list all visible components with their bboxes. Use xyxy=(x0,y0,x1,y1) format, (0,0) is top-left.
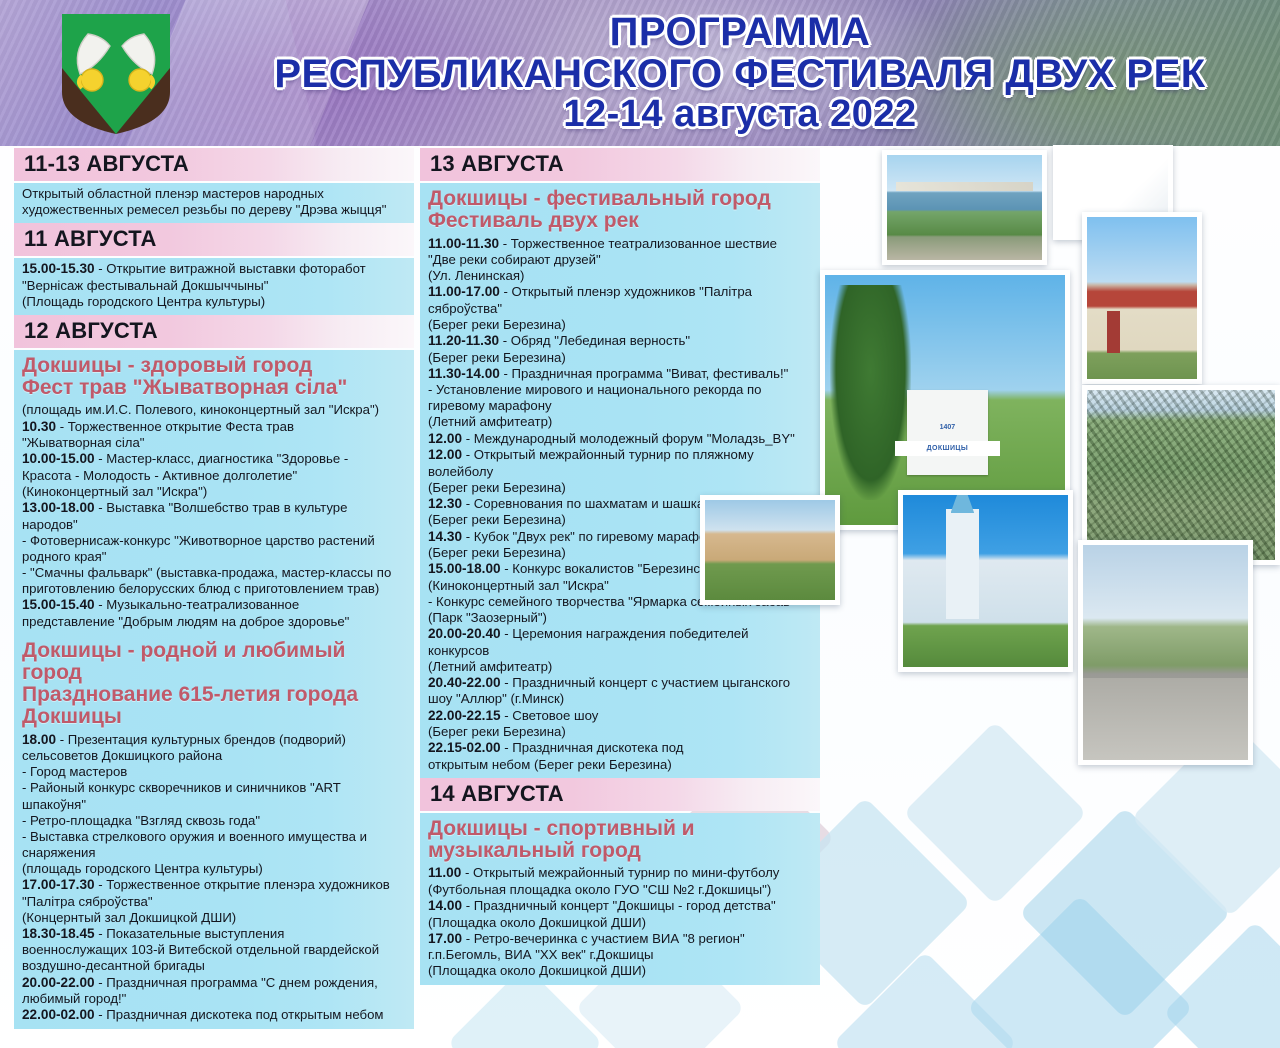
program-item-text: г.п.Бегомль, ВИА "ХХ век" г.Докшицы xyxy=(428,947,653,962)
program-item: 12.00 - Международный молодежный форум "… xyxy=(428,431,814,448)
program-item: народов" xyxy=(22,517,408,533)
program-subtitle: Докшицы - здоровый городФест трав "Жыват… xyxy=(22,355,408,400)
program-item: (Летний амфитеатр) xyxy=(428,659,814,675)
program-item-text: (Берег реки Березина) xyxy=(428,512,566,527)
program-item-text: - Фотовернисаж-конкурс "Животворное царс… xyxy=(22,533,375,564)
program-item: - Ретро-площадка "Взгляд сквозь года" xyxy=(22,813,408,829)
program-item-text: - Открытый межрайонный турнир по пляжном… xyxy=(466,447,754,462)
program-item: (Берег реки Березина) xyxy=(428,724,814,740)
festival-program-poster: ПРОГРАММА РЕСПУБЛИКАНСКОГО ФЕСТИВАЛЯ ДВУ… xyxy=(0,0,1280,1048)
program-item-text: - Торжественное театрализованное шествие xyxy=(503,236,777,251)
program-item: 17.00-17.30 - Торжественное открытие пле… xyxy=(22,877,408,894)
program-item-time: 14.30 xyxy=(428,529,462,544)
program-item-text: - Обряд "Лебединая верность" xyxy=(503,333,690,348)
program-item-text: - Ретро-вечеринка с участием ВИА "8 реги… xyxy=(466,931,745,946)
program-item-time: 12.00 xyxy=(428,431,462,446)
program-item: "Вернісаж фестывальнай Докшыччыны" xyxy=(22,278,408,294)
program-item: - Установление мирового и национального … xyxy=(428,382,814,414)
program-item-text: "Палітра сяброўства" xyxy=(22,894,153,909)
photo-collage: 1407 ДОКШИЦЫ xyxy=(820,140,1280,940)
program-item-text: Красота - Молодость - Активное долголети… xyxy=(22,468,297,483)
program-subtitle: Докшицы - спортивный и музыкальный город xyxy=(428,818,814,863)
program-block: 15.00-15.30 - Открытие витражной выставк… xyxy=(14,258,414,315)
program-item-text: (Берег реки Березина) xyxy=(428,350,566,365)
program-item-time: 17.00-17.30 xyxy=(22,877,95,892)
header-title-group: ПРОГРАММА РЕСПУБЛИКАНСКОГО ФЕСТИВАЛЯ ДВУ… xyxy=(200,0,1280,146)
program-item: "Две реки собирают друзей" xyxy=(428,252,814,268)
program-item: 12.00 - Открытый межрайонный турнир по п… xyxy=(428,447,814,464)
program-item: 15.00-15.30 - Открытие витражной выставк… xyxy=(22,261,408,278)
program-block: Открытый областной пленэр мастеров народ… xyxy=(14,183,414,223)
poster-header: ПРОГРАММА РЕСПУБЛИКАНСКОГО ФЕСТИВАЛЯ ДВУ… xyxy=(0,0,1280,146)
program-item-text: - Торжественное открытие Феста трав xyxy=(60,419,294,434)
program-item-text: открытым небом (Берег реки Березина) xyxy=(428,757,672,772)
program-item-text: "Две реки собирают друзей" xyxy=(428,252,601,267)
program-item-text: сельсоветов Докшицкого района xyxy=(22,748,222,763)
program-item-text: - Открытие витражной выставки фоторабот xyxy=(98,261,365,276)
program-block: Докшицы - фестивальный городФестиваль дв… xyxy=(420,183,820,778)
tree-shape xyxy=(830,285,912,500)
program-item: (Площадка около Докшицкой ДШИ) xyxy=(428,963,814,979)
program-item-time: 20.40-22.00 xyxy=(428,675,501,690)
program-item-time: 11.20-11.30 xyxy=(428,333,499,348)
program-item-time: 11.00 xyxy=(428,865,461,880)
program-item-text: (площадь городского Центра культуры) xyxy=(22,861,263,876)
program-item-text: (Площадка около Докшицкой ДШИ) xyxy=(428,963,646,978)
program-item: волейболу xyxy=(428,464,814,480)
central-square-photo xyxy=(1078,540,1253,765)
program-item: 22.00-02.00 - Праздничная дискотека под … xyxy=(22,1007,408,1024)
program-item-text: "Вернісаж фестывальнай Докшыччыны" xyxy=(22,278,268,293)
program-item-text: (Площадка около Докшицкой ДШИ) xyxy=(428,915,646,930)
left-program-column: 11-13 АВГУСТАОткрытый областной пленэр м… xyxy=(14,148,414,1029)
orthodox-church-photo xyxy=(898,490,1073,672)
program-item-time: 18.00 xyxy=(22,732,56,747)
program-item: 11.20-11.30 - Обряд "Лебединая верность" xyxy=(428,333,814,350)
program-item-text: (Концернтый зал Докшицкой ДШИ) xyxy=(22,910,236,925)
program-item-time: 12.00 xyxy=(428,447,462,462)
program-item-time: 11.00-11.30 xyxy=(428,236,499,251)
embankment-river-photo xyxy=(882,150,1047,265)
aerial-town-view-photo xyxy=(1082,385,1280,565)
program-item-text: - Открытый межрайонный турнир по мини-фу… xyxy=(465,865,779,880)
program-item-time: 15.00-18.00 xyxy=(428,561,501,576)
program-item: "Палітра сяброўства" xyxy=(22,894,408,910)
program-item-time: 10.00-15.00 xyxy=(22,451,95,466)
program-item-text: - Показательные выступления xyxy=(98,926,284,941)
program-item-text: - Праздничная программа "Виват, фестивал… xyxy=(503,366,788,381)
poster-title-line-2: РЕСПУБЛИКАНСКОГО ФЕСТИВАЛЯ ДВУХ РЕК xyxy=(274,54,1205,95)
program-item: Открытый областной пленэр мастеров народ… xyxy=(22,186,408,218)
program-item-text: - "Смачны фальварк" (выставка-продажа, м… xyxy=(22,565,391,596)
program-item-time: 14.00 xyxy=(428,898,462,913)
program-item-text: "Жыватворная сіла" xyxy=(22,435,144,450)
date-band: 11-13 АВГУСТА xyxy=(14,148,414,181)
program-item: - Город мастеров xyxy=(22,764,408,780)
program-item: 17.00 - Ретро-вечеринка с участием ВИА "… xyxy=(428,931,814,948)
program-item: 22.15-02.00 - Праздничная дискотека под xyxy=(428,740,814,757)
program-item: 10.00-15.00 - Мастер-класс, диагностика … xyxy=(22,451,408,468)
program-item-text: (Берег реки Березина) xyxy=(428,317,566,332)
program-item-time: 18.30-18.45 xyxy=(22,926,95,941)
program-item-text: - Город мастеров xyxy=(22,764,127,779)
program-item-time: 10.30 xyxy=(22,419,56,434)
program-item-text: (Киноконцертный зал "Искра") xyxy=(22,484,207,499)
program-item: - Районый конкурс скворечников и синични… xyxy=(22,780,408,812)
program-item-text: (Парк "Заозерный") xyxy=(428,610,547,625)
program-item: 15.00-15.40 - Музыкально-театрализованно… xyxy=(22,597,408,614)
program-item-text: - Соревнования по шахматам и шашкам xyxy=(466,496,714,511)
program-item: 10.30 - Торжественное открытие Феста тра… xyxy=(22,419,408,436)
program-item-time: 20.00-22.00 xyxy=(22,975,95,990)
program-subtitle: Докшицы - фестивальный городФестиваль дв… xyxy=(428,188,814,233)
entrance-sign-town: ДОКШИЦЫ xyxy=(895,441,999,456)
catholic-church-photo xyxy=(700,495,840,605)
program-item: (Берег реки Березина) xyxy=(428,350,814,366)
program-item-text: - Открытый пленэр художников "Палітра xyxy=(503,284,752,299)
program-item-time: 15.00-15.30 xyxy=(22,261,95,276)
program-item: 20.00-20.40 - Церемония награждения побе… xyxy=(428,626,814,643)
program-venue: (площадь им.И.С. Полевого, киноконцертны… xyxy=(22,402,408,418)
program-item-text: - Праздничная программа "С днем рождения… xyxy=(98,975,378,990)
program-item: сельсоветов Докшицкого района xyxy=(22,748,408,764)
program-item-text: - Выставка стрелкового оружия и военного… xyxy=(22,829,367,860)
program-item: представление "Добрым людям на доброе зд… xyxy=(22,614,408,630)
program-item: 11.30-14.00 - Праздничная программа "Вив… xyxy=(428,366,814,383)
date-band: 11 АВГУСТА xyxy=(14,223,414,256)
program-item-text: любимый город!" xyxy=(22,991,126,1006)
poster-title-line-1: ПРОГРАММА xyxy=(610,12,871,53)
program-item: - Выставка стрелкового оружия и военного… xyxy=(22,829,408,861)
program-item: (площадь городского Центра культуры) xyxy=(22,861,408,877)
program-item: сяброўства" xyxy=(428,301,814,317)
program-item-text: - Выставка "Волшебство трав в культуре xyxy=(98,500,347,515)
program-item-text: - Мастер-класс, диагностика "Здоровье - xyxy=(98,451,348,466)
coat-of-arms-icon xyxy=(58,12,174,136)
program-item: военнослужащих 103-й Витебской отдельной… xyxy=(22,942,408,974)
program-item-text: волейболу xyxy=(428,464,493,479)
program-item-text: военнослужащих 103-й Витебской отдельной… xyxy=(22,942,379,973)
program-item: (Берег реки Березина) xyxy=(428,317,814,333)
program-item-text: - Праздничный концерт с участием цыганск… xyxy=(504,675,790,690)
program-item: 11.00-11.30 - Торжественное театрализова… xyxy=(428,236,814,253)
program-block: Докшицы - здоровый городФест трав "Жыват… xyxy=(14,350,414,635)
program-item-text: - Районый конкурс скворечников и синични… xyxy=(22,780,341,811)
program-item-text: (Берег реки Березина) xyxy=(428,480,566,495)
program-item: 18.00 - Презентация культурных брендов (… xyxy=(22,732,408,749)
program-subtitle: Докшицы - родной и любимый городПразднов… xyxy=(22,640,408,729)
program-item: 22.00-22.15 - Световое шоу xyxy=(428,708,814,725)
program-item: (Площадка около Докшицкой ДШИ) xyxy=(428,915,814,931)
program-item: (Ул. Ленинская) xyxy=(428,268,814,284)
program-item: (Концернтый зал Докшицкой ДШИ) xyxy=(22,910,408,926)
program-item-text: (Киноконцертный зал "Искра" xyxy=(428,578,609,593)
program-item: (Киноконцертный зал "Искра") xyxy=(22,484,408,500)
program-item: 20.00-22.00 - Праздничная программа "С д… xyxy=(22,975,408,992)
entrance-sign-shape: 1407 ДОКШИЦЫ xyxy=(907,390,989,475)
program-item: (Летний амфитеатр) xyxy=(428,414,814,430)
program-item-text: (Площадь городского Центра культуры) xyxy=(22,294,265,309)
program-item-time: 17.00 xyxy=(428,931,462,946)
program-item: 18.30-18.45 - Показательные выступления xyxy=(22,926,408,943)
program-item-text: Открытый областной пленэр мастеров народ… xyxy=(22,186,386,217)
date-band: 12 АВГУСТА xyxy=(14,315,414,348)
program-item-text: - Церемония награждения победителей xyxy=(504,626,748,641)
program-item: (Парк "Заозерный") xyxy=(428,610,814,626)
program-item-text: (Футбольная площадка около ГУО "СШ №2 г.… xyxy=(428,882,771,897)
program-item: (Площадь городского Центра культуры) xyxy=(22,294,408,310)
program-item-text: - Праздничный концерт "Докшицы - город д… xyxy=(466,898,776,913)
program-item-text: народов" xyxy=(22,517,78,532)
program-item: шоу "Аллюр" (г.Минск) xyxy=(428,691,814,707)
program-block: Докшицы - родной и любимый городПразднов… xyxy=(14,635,414,1029)
program-item-time: 15.00-15.40 xyxy=(22,597,95,612)
program-item-time: 11.00-17.00 xyxy=(428,284,500,299)
program-item-text: конкурсов xyxy=(428,643,489,658)
program-item: (Футбольная площадка около ГУО "СШ №2 г.… xyxy=(428,882,814,898)
program-item-text: сяброўства" xyxy=(428,301,502,316)
program-item: любимый город!" xyxy=(22,991,408,1007)
date-band: 14 АВГУСТА xyxy=(420,778,820,811)
program-item-text: представление "Добрым людям на доброе зд… xyxy=(22,614,349,629)
program-item-text: - Кубок "Двух рек" по гиревому марафону xyxy=(466,529,721,544)
program-item-text: (Летний амфитеатр) xyxy=(428,659,552,674)
program-item: открытым небом (Берег реки Березина) xyxy=(428,757,814,773)
program-item-time: 20.00-20.40 xyxy=(428,626,501,641)
program-item: "Жыватворная сіла" xyxy=(22,435,408,451)
program-item-text: - Ретро-площадка "Взгляд сквозь года" xyxy=(22,813,260,828)
program-item-text: шоу "Аллюр" (г.Минск) xyxy=(428,691,564,706)
program-item-text: - Праздничная дискотека под xyxy=(504,740,683,755)
program-item-text: (Летний амфитеатр) xyxy=(428,414,552,429)
program-item: - Фотовернисаж-конкурс "Животворное царс… xyxy=(22,533,408,565)
program-item-text: - Презентация культурных брендов (подвор… xyxy=(60,732,346,747)
program-item-time: 12.30 xyxy=(428,496,462,511)
program-item: 11.00 - Открытый межрайонный турнир по м… xyxy=(428,865,814,882)
program-item-text: - Музыкально-театрализованное xyxy=(98,597,299,612)
program-item: Красота - Молодость - Активное долголети… xyxy=(22,468,408,484)
program-item-text: - Праздничная дискотека под открытым неб… xyxy=(98,1007,383,1022)
program-item-time: 22.15-02.00 xyxy=(428,740,501,755)
program-item-text: - Международный молодежный форум "Моладз… xyxy=(466,431,795,446)
program-item-time: 22.00-02.00 xyxy=(22,1007,95,1022)
program-item-text: - Световое шоу xyxy=(504,708,598,723)
program-item-text: (Ул. Ленинская) xyxy=(428,268,524,283)
program-item-text: (Берег реки Березина) xyxy=(428,724,566,739)
program-item-time: 13.00-18.00 xyxy=(22,500,95,515)
program-item-time: 11.30-14.00 xyxy=(428,366,500,381)
program-item: 14.00 - Праздничный концерт "Докшицы - г… xyxy=(428,898,814,915)
program-item: г.п.Бегомль, ВИА "ХХ век" г.Докшицы xyxy=(428,947,814,963)
poster-title-dates: 12-14 августа 2022 xyxy=(563,95,916,134)
church-tower-shape xyxy=(946,509,979,619)
date-band: 13 АВГУСТА xyxy=(420,148,820,181)
program-item: 11.00-17.00 - Открытый пленэр художников… xyxy=(428,284,814,301)
program-item: (Берег реки Березина) xyxy=(428,480,814,496)
program-item-text: - Установление мирового и национального … xyxy=(428,382,762,413)
program-item: 20.40-22.00 - Праздничный концерт с учас… xyxy=(428,675,814,692)
school-building-photo xyxy=(1082,212,1202,384)
program-item: 13.00-18.00 - Выставка "Волшебство трав … xyxy=(22,500,408,517)
program-item-text: - Торжественное открытие пленэра художни… xyxy=(98,877,390,892)
entrance-sign-year: 1407 xyxy=(907,424,989,431)
program-item-time: 22.00-22.15 xyxy=(428,708,501,723)
program-item-text: (Берег реки Березина) xyxy=(428,545,566,560)
program-item: конкурсов xyxy=(428,643,814,659)
program-item: - "Смачны фальварк" (выставка-продажа, м… xyxy=(22,565,408,597)
program-block: Докшицы - спортивный и музыкальный город… xyxy=(420,813,820,985)
